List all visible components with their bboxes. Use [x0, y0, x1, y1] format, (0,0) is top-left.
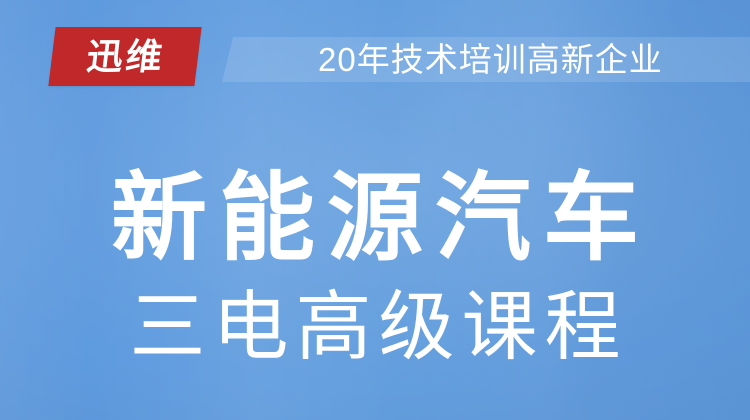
tagline-text: 20年技术培训高新企业 — [318, 36, 663, 82]
poster-header: 迅维 20年技术培训高新企业 — [0, 0, 750, 110]
page-subtitle: 三电高级课程 — [0, 288, 750, 369]
brand-logo-text: 迅维 — [57, 30, 196, 83]
page-title: 新能源汽车 — [0, 168, 750, 270]
promo-poster: 迅维 20年技术培训高新企业 新能源汽车 三电高级课程 — [0, 0, 750, 420]
